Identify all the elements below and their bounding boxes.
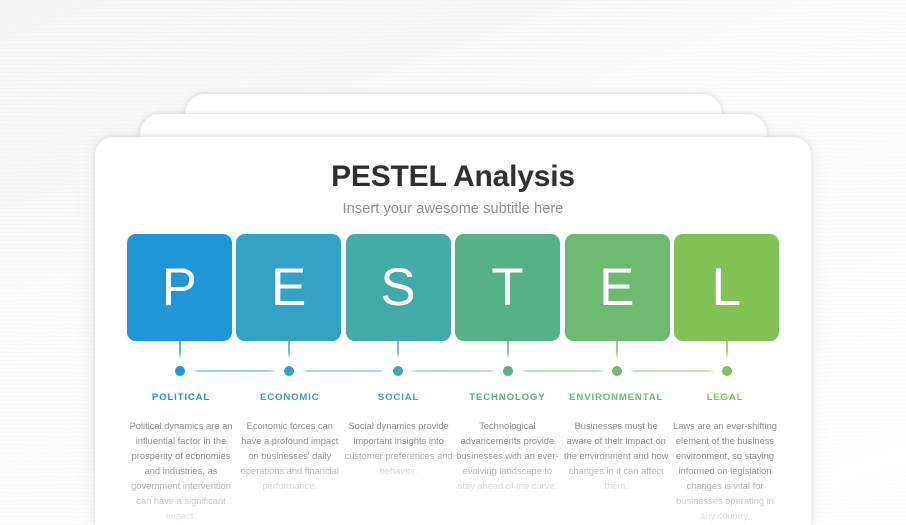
segment-label: TECHNOLOGY (453, 392, 561, 403)
connector-halo (276, 358, 302, 384)
letter-block-glyph: S (380, 261, 416, 314)
connector-stem (288, 341, 290, 371)
connector-stem (616, 341, 618, 371)
connector-stem (507, 341, 509, 371)
connector-stem (726, 341, 728, 371)
letter-block-glyph: L (711, 261, 741, 314)
connector-dot (393, 366, 403, 376)
connector-dot (722, 366, 732, 376)
segment-label: ECONOMIC (236, 392, 344, 403)
letter-block-environmental[interactable]: E (565, 234, 670, 341)
connector-dot (503, 366, 513, 376)
connector-dot (175, 366, 185, 376)
connector-dot (284, 366, 294, 376)
segment-label: LEGAL (671, 392, 779, 403)
connector-stem (397, 341, 399, 371)
letter-block-glyph: P (162, 261, 198, 314)
connector-dot (612, 366, 622, 376)
letter-block-political[interactable]: P (127, 234, 232, 341)
letter-block-glyph: E (599, 261, 635, 314)
segment-description: Businesses must be aware of their impact… (562, 419, 670, 494)
segment-label: SOCIAL (345, 392, 453, 403)
segment-label: POLITICAL (127, 392, 235, 403)
letter-block-technology[interactable]: T (455, 234, 560, 341)
connector-halo (385, 358, 411, 384)
slide-heading: PESTEL Analysis Insert your awesome subt… (95, 137, 811, 217)
segment-label: ENVIRONMENTAL (562, 392, 670, 403)
card-stack: PESTEL Analysis Insert your awesome subt… (0, 0, 906, 525)
segment-column-social: SOCIALSocial dynamics provide important … (345, 392, 453, 524)
segment-column-economic: ECONOMICEconomic forces can have a profo… (236, 392, 344, 524)
connector-halo (495, 358, 521, 384)
segment-column-political: POLITICALPolitical dynamics are an influ… (127, 392, 235, 524)
connector-stem (179, 341, 181, 371)
connector-baseline (179, 370, 727, 372)
segment-description: Social dynamics provide important insigh… (345, 419, 453, 479)
segment-description: Laws are an ever-shifting element of the… (671, 419, 779, 524)
letter-block-glyph: E (271, 261, 307, 314)
letter-block-social[interactable]: S (346, 234, 451, 341)
segment-description: Political dynamics are an influential fa… (127, 419, 235, 524)
segment-description: Technological advancements provide busin… (453, 419, 561, 494)
pestel-slide-card: PESTEL Analysis Insert your awesome subt… (95, 137, 811, 525)
connector-halo (167, 358, 193, 384)
connector-halo (714, 358, 740, 384)
segment-column-technology: TECHNOLOGYTechnological advancements pro… (453, 392, 561, 524)
segment-description: Economic forces can have a profound impa… (236, 419, 344, 494)
page-title: PESTEL Analysis (95, 160, 811, 194)
connector-layer (95, 341, 811, 381)
letter-block-legal[interactable]: L (674, 234, 779, 341)
segment-columns: POLITICALPolitical dynamics are an influ… (127, 392, 779, 524)
page-subtitle: Insert your awesome subtitle here (95, 201, 811, 217)
segment-column-legal: LEGALLaws are an ever-shifting element o… (671, 392, 779, 524)
letter-block-economic[interactable]: E (236, 234, 341, 341)
letter-block-glyph: T (491, 261, 524, 314)
letter-blocks-row: PESTEL (127, 234, 779, 341)
segment-column-environmental: ENVIRONMENTALBusinesses must be aware of… (562, 392, 670, 524)
connector-halo (604, 358, 630, 384)
